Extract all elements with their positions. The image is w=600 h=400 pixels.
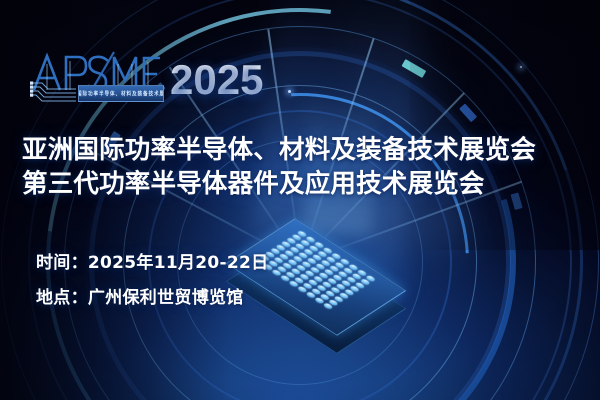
apsme-logo[interactable]: 亚洲国际功率半导体、材料及装备技术展览会	[30, 50, 162, 106]
logo-banner-text: 亚洲国际功率半导体、材料及装备技术展览会	[78, 90, 164, 98]
event-date: 时间：2025年11月20-22日	[36, 246, 268, 281]
event-venue: 地点：广州保利世贸博览馆	[36, 281, 268, 316]
title-block: 亚洲国际功率半导体、材料及装备技术展览会 第三代功率半导体器件及应用技术展览会	[22, 133, 582, 201]
circuit-trace-icon	[32, 83, 76, 101]
title-line-1: 亚洲国际功率半导体、材料及装备技术展览会	[22, 133, 582, 167]
event-meta-block: 时间：2025年11月20-22日 地点：广州保利世贸博览馆	[36, 246, 268, 316]
light-particle-small	[520, 66, 522, 68]
light-particle	[288, 90, 291, 93]
conference-poster: 亚洲国际功率半导体、材料及装备技术展览会 2025 亚洲国际功率半导体、材料及装…	[0, 0, 600, 400]
title-line-2: 第三代功率半导体器件及应用技术展览会	[22, 167, 582, 201]
logo-banner-bar: 亚洲国际功率半导体、材料及装备技术展览会	[78, 85, 164, 102]
year-label: 2025	[170, 56, 263, 104]
